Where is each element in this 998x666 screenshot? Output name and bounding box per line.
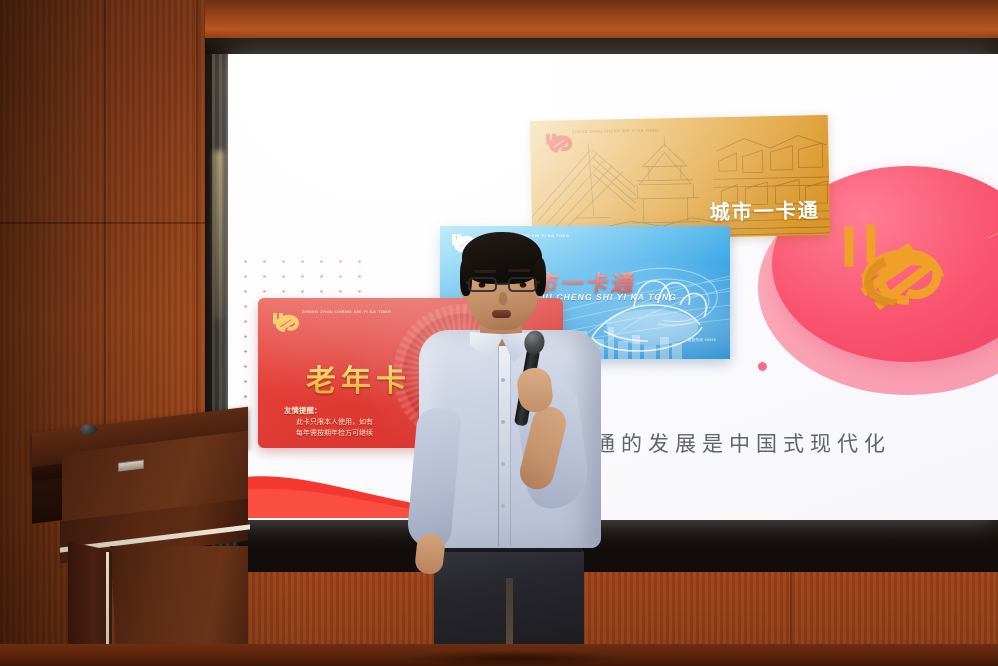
podium: [18, 418, 248, 666]
speaker-mouth: [492, 310, 511, 318]
speaker-floor-shadow: [400, 650, 630, 666]
speaker-shirt-placket: [498, 346, 511, 546]
shirt-button: [501, 420, 505, 424]
speaker-nose: [499, 292, 507, 305]
projection-screen: ZHENG ZHOU CHENG SHI YI KA TONG 城市一卡通: [228, 54, 998, 520]
wall-header-band: [205, 0, 998, 42]
screen-top-shadow: [205, 38, 998, 54]
shirt-button: [501, 462, 505, 466]
curtain-light-glow: [214, 150, 224, 320]
shirt-button: [501, 378, 505, 382]
podium-mic-base-knob: [80, 424, 97, 435]
screen-glare: [228, 54, 998, 520]
speaker-eyebrow-left: [474, 270, 496, 273]
shirt-button: [501, 504, 505, 508]
screenshot-root: ZHENG ZHOU CHENG SHI YI KA TONG 城市一卡通: [0, 0, 998, 666]
speaker-eyebrow-right: [508, 269, 530, 272]
glasses-icon: [466, 274, 540, 294]
speaker: [414, 238, 604, 666]
